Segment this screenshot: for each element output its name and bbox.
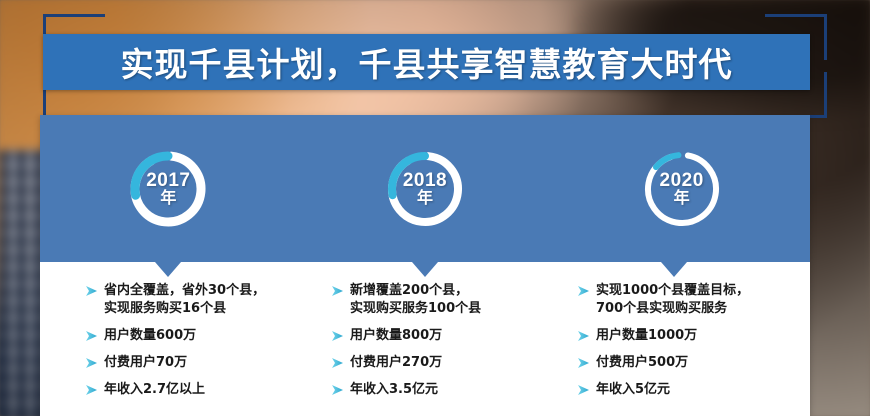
list-item-text: 付费用户270万: [350, 354, 442, 372]
list-item: 用户数量800万: [332, 327, 554, 345]
arrow-bullet-icon: [332, 286, 343, 296]
slide-canvas: 实现千县计划，千县共享智慧教育大时代 2017 年: [0, 0, 870, 416]
list-item: 新增覆盖200个县， 实现购买服务100个县: [332, 282, 554, 318]
progress-ring-2018: 2018 年: [385, 149, 465, 229]
ring-row: 2017 年 2018 年: [40, 115, 810, 262]
list-item: 付费用户270万: [332, 354, 554, 372]
ring-label-2017: 2017 年: [128, 149, 208, 229]
ring-slot-2017: 2017 年: [40, 149, 297, 229]
detail-columns: 省内全覆盖，省外30个县， 实现服务购买16个县 用户数量600万 付费用户70…: [40, 262, 810, 416]
page-title: 实现千县计划，千县共享智慧教育大时代: [121, 38, 733, 86]
list-item-text: 新增覆盖200个县， 实现购买服务100个县: [350, 282, 481, 318]
list-item-text: 用户数量800万: [350, 327, 442, 345]
ring-year-suffix-2018: 年: [417, 190, 433, 206]
progress-ring-2020: 2020 年: [642, 149, 722, 229]
list-item-text: 省内全覆盖，省外30个县， 实现服务购买16个县: [104, 282, 265, 318]
list-item-text: 付费用户500万: [596, 354, 688, 372]
list-item-text: 年收入5亿元: [596, 381, 670, 399]
arrow-bullet-icon: [332, 358, 343, 368]
arrow-bullet-icon: [332, 331, 343, 341]
arrow-bullet-icon: [86, 286, 97, 296]
list-item: 用户数量600万: [86, 327, 308, 345]
ring-slot-2020: 2020 年: [553, 149, 810, 229]
arrow-bullet-icon: [86, 385, 97, 395]
arrow-bullet-icon: [332, 385, 343, 395]
list-item-text: 实现1000个县覆盖目标， 700个县实现购买服务: [596, 282, 749, 318]
list-item-text: 年收入2.7亿以上: [104, 381, 205, 399]
detail-column-2017: 省内全覆盖，省外30个县， 实现服务购买16个县 用户数量600万 付费用户70…: [40, 262, 318, 416]
list-item: 用户数量1000万: [578, 327, 800, 345]
list-item-text: 年收入3.5亿元: [350, 381, 438, 399]
list-item-text: 用户数量600万: [104, 327, 196, 345]
ring-year-suffix-2017: 年: [160, 190, 176, 206]
ring-label-2020: 2020 年: [642, 149, 722, 229]
arrow-bullet-icon: [86, 358, 97, 368]
arrow-bullet-icon: [578, 331, 589, 341]
ring-year-suffix-2020: 年: [674, 190, 690, 206]
arrow-bullet-icon: [86, 331, 97, 341]
list-item-text: 用户数量1000万: [596, 327, 697, 345]
list-item: 省内全覆盖，省外30个县， 实现服务购买16个县: [86, 282, 308, 318]
list-item: 年收入5亿元: [578, 381, 800, 399]
list-item: 付费用户500万: [578, 354, 800, 372]
content-card: 2017 年 2018 年: [40, 115, 810, 416]
ring-label-2018: 2018 年: [385, 149, 465, 229]
arrow-bullet-icon: [578, 286, 589, 296]
arrow-bullet-icon: [578, 358, 589, 368]
list-item: 实现1000个县覆盖目标， 700个县实现购买服务: [578, 282, 800, 318]
detail-column-2020: 实现1000个县覆盖目标， 700个县实现购买服务 用户数量1000万 付费用户…: [564, 262, 810, 416]
list-item: 年收入2.7亿以上: [86, 381, 308, 399]
list-item: 付费用户70万: [86, 354, 308, 372]
list-item: 年收入3.5亿元: [332, 381, 554, 399]
ring-slot-2018: 2018 年: [297, 149, 554, 229]
detail-column-2018: 新增覆盖200个县， 实现购买服务100个县 用户数量800万 付费用户270万: [318, 262, 564, 416]
title-banner: 实现千县计划，千县共享智慧教育大时代: [43, 34, 810, 90]
progress-ring-2017: 2017 年: [128, 149, 208, 229]
list-item-text: 付费用户70万: [104, 354, 187, 372]
arrow-bullet-icon: [578, 385, 589, 395]
